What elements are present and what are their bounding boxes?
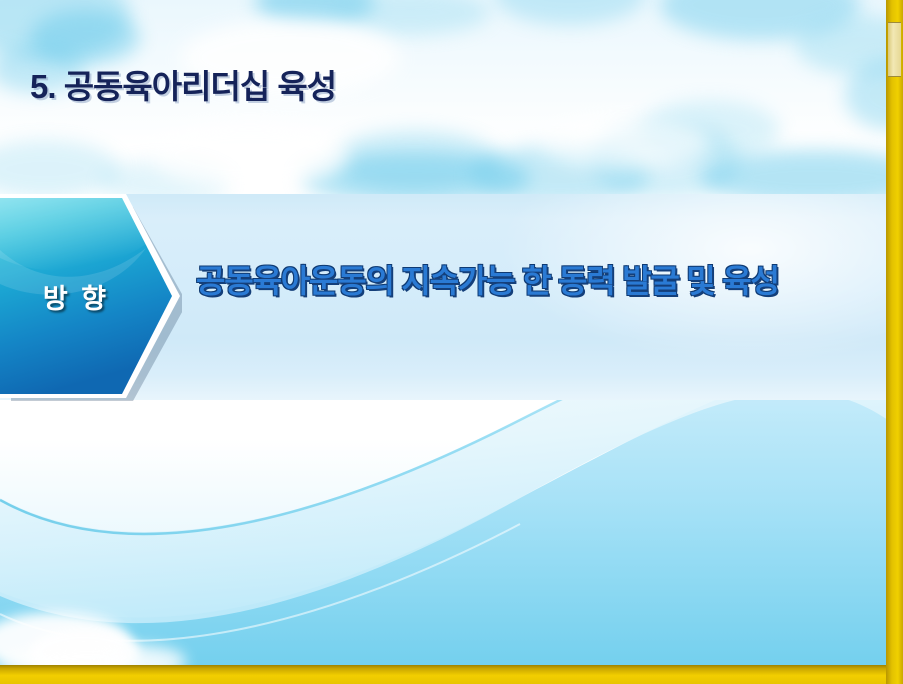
slide-viewport: 5. 공동육아리더십 육성 bbox=[0, 0, 903, 684]
presentation-slide: 5. 공동육아리더십 육성 bbox=[0, 0, 888, 665]
scroll-thumb[interactable] bbox=[888, 22, 901, 77]
page-title: 5. 공동육아리더십 육성 bbox=[30, 60, 336, 108]
bottom-gold-band bbox=[0, 665, 903, 684]
direction-tag: 방 향 bbox=[0, 188, 182, 404]
vertical-scrollbar[interactable] bbox=[886, 0, 903, 684]
direction-statement: 공동육아운동의 지속가능 한 동력 발굴 및 육성 bbox=[196, 256, 779, 302]
